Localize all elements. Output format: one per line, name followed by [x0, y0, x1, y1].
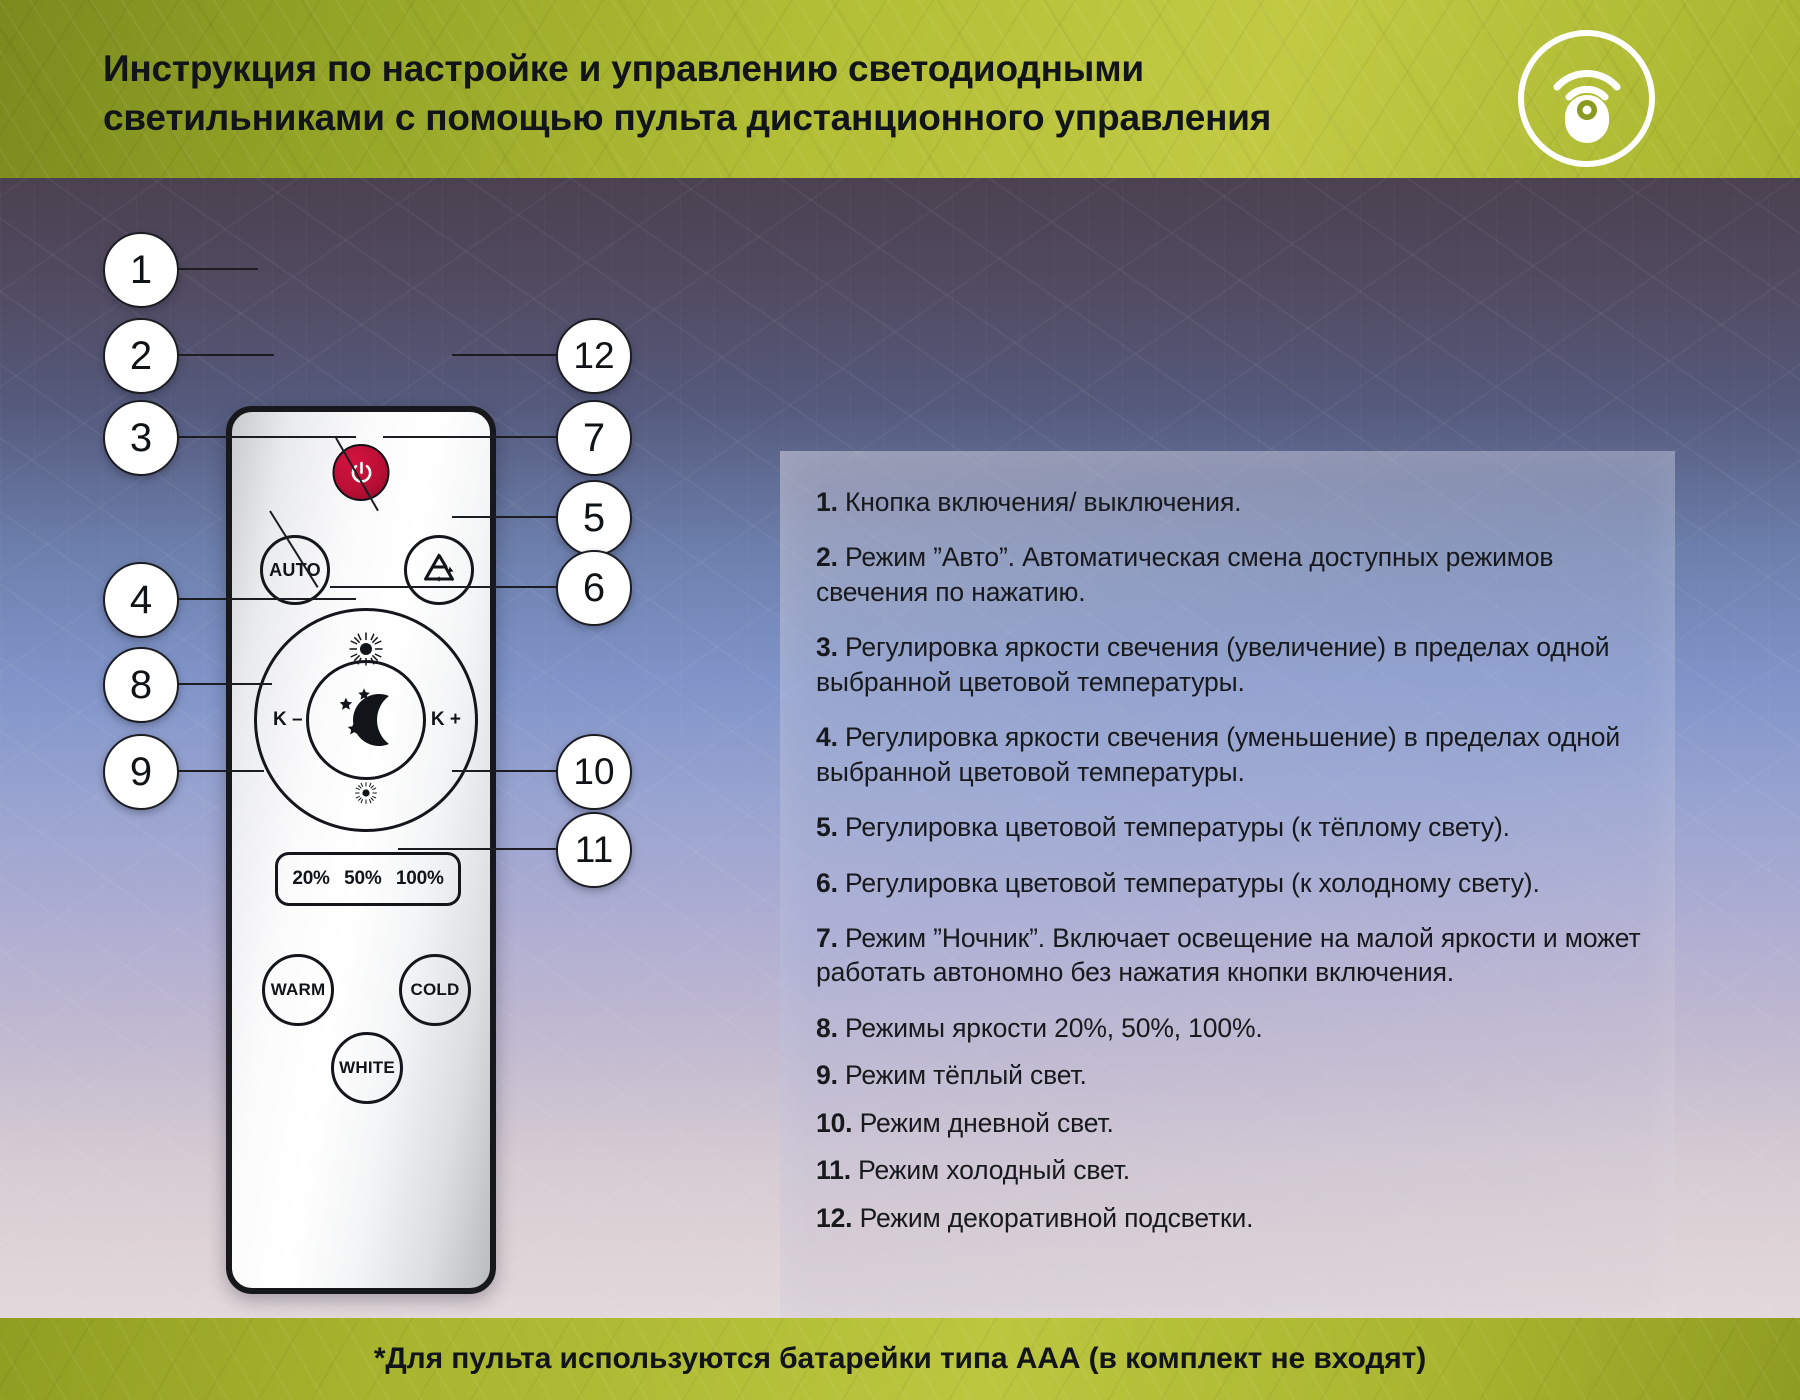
callout-8[interactable]: 8	[103, 647, 179, 723]
legend-text-6: Регулировка цветовой температуры (к холо…	[838, 868, 1540, 898]
legend-text-11: Режим холодный свет.	[851, 1155, 1130, 1185]
legend-item-9: 9. Режим тёплый свет.	[816, 1058, 1646, 1092]
moon-stars-icon	[327, 686, 405, 754]
legend-num-11: 11.	[816, 1155, 851, 1185]
callout-7[interactable]: 7	[556, 400, 632, 476]
legend-text-3: Регулировка яркости свечения (увеличение…	[816, 632, 1609, 696]
header-band: Инструкция по настройке и управлению све…	[0, 0, 1800, 200]
cold-button[interactable]: COLD	[399, 954, 471, 1026]
legend-text-7: Режим ”Ночник”. Включает освещение на ма…	[816, 923, 1640, 987]
footer-band: *Для пульта используются батарейки типа …	[0, 1318, 1800, 1400]
legend-num-8: 8.	[816, 1013, 838, 1043]
legend-item-8: 8. Режимы яркости 20%, 50%, 100%.	[816, 1011, 1646, 1045]
callout-11[interactable]: 11	[556, 812, 632, 888]
legend-num-10: 10.	[816, 1108, 852, 1138]
legend-num-5: 5.	[816, 812, 838, 842]
leader-line-7	[383, 436, 574, 438]
content-area: AUTO	[0, 178, 1800, 1318]
brightness-20[interactable]: 20%	[292, 868, 329, 890]
legend-num-2: 2.	[816, 542, 838, 572]
k-plus-label[interactable]: K +	[431, 709, 461, 731]
legend-text-12: Режим декоративной подсветки.	[852, 1203, 1253, 1233]
legend-text-4: Регулировка яркости свечения (уменьшение…	[816, 722, 1620, 786]
legend-item-6: 6. Регулировка цветовой температуры (к х…	[816, 866, 1646, 900]
legend-num-12: 12.	[816, 1203, 852, 1233]
page-title: Инструкция по настройке и управлению све…	[103, 44, 1323, 142]
legend-list: 1. Кнопка включения/ выключения. 2. Режи…	[816, 485, 1646, 1248]
infographic-page: Инструкция по настройке и управлению све…	[0, 0, 1800, 1400]
brightness-color-dial[interactable]: K – K +	[254, 608, 478, 832]
k-minus-label[interactable]: K –	[273, 709, 303, 731]
decor-mode-button[interactable]	[404, 535, 474, 605]
brightness-100[interactable]: 100%	[396, 868, 444, 890]
remote-control-body: AUTO	[226, 406, 496, 1294]
legend-item-4: 4. Регулировка яркости свечения (уменьше…	[816, 720, 1646, 789]
callout-6[interactable]: 6	[556, 550, 632, 626]
warm-button[interactable]: WARM	[262, 954, 334, 1026]
legend-num-9: 9.	[816, 1060, 838, 1090]
callout-5[interactable]: 5	[556, 480, 632, 556]
legend-text-1: Кнопка включения/ выключения.	[838, 487, 1242, 517]
recycle-triangle-icon	[418, 550, 460, 590]
legend-item-3: 3. Регулировка яркости свечения (увеличе…	[816, 630, 1646, 699]
callout-9[interactable]: 9	[103, 734, 179, 810]
callout-1[interactable]: 1	[103, 232, 179, 308]
white-button[interactable]: WHITE	[331, 1032, 403, 1104]
leader-line-11	[398, 848, 574, 850]
legend-item-7: 7. Режим ”Ночник”. Включает освещение на…	[816, 921, 1646, 990]
callout-3[interactable]: 3	[103, 400, 179, 476]
legend-num-7: 7.	[816, 923, 838, 953]
legend-item-5: 5. Регулировка цветовой температуры (к т…	[816, 810, 1646, 844]
legend-item-2: 2. Режим ”Авто”. Автоматическая смена до…	[816, 540, 1646, 609]
legend-text-9: Режим тёплый свет.	[838, 1060, 1087, 1090]
brightness-50[interactable]: 50%	[344, 868, 381, 890]
callout-10[interactable]: 10	[556, 734, 632, 810]
brightness-levels-bar[interactable]: 20% 50% 100%	[275, 852, 461, 906]
legend-num-3: 3.	[816, 632, 838, 662]
legend-text-2: Режим ”Авто”. Автоматическая смена досту…	[816, 542, 1553, 606]
auto-button[interactable]: AUTO	[260, 535, 330, 605]
callout-2[interactable]: 2	[103, 318, 179, 394]
legend-num-1: 1.	[816, 487, 838, 517]
legend-item-11: 11. Режим холодный свет.	[816, 1153, 1646, 1187]
legend-text-8: Режимы яркости 20%, 50%, 100%.	[838, 1013, 1263, 1043]
remote-control-signal-icon	[1518, 30, 1655, 167]
legend-item-1: 1. Кнопка включения/ выключения.	[816, 485, 1646, 519]
legend-item-12: 12. Режим декоративной подсветки.	[816, 1201, 1646, 1235]
brightness-down-icon[interactable]	[353, 780, 379, 811]
legend-num-4: 4.	[816, 722, 838, 752]
power-button[interactable]	[333, 444, 390, 501]
callout-12[interactable]: 12	[556, 318, 632, 394]
legend-panel: 1. Кнопка включения/ выключения. 2. Режи…	[780, 451, 1675, 1318]
legend-text-5: Регулировка цветовой температуры (к тёпл…	[838, 812, 1510, 842]
callout-4[interactable]: 4	[103, 562, 179, 638]
night-mode-button[interactable]	[306, 660, 426, 780]
legend-text-10: Режим дневной свет.	[852, 1108, 1113, 1138]
battery-note: *Для пульта используются батарейки типа …	[0, 1318, 1800, 1400]
legend-item-10: 10. Режим дневной свет.	[816, 1106, 1646, 1140]
leader-line-6	[330, 586, 574, 588]
legend-num-6: 6.	[816, 868, 838, 898]
